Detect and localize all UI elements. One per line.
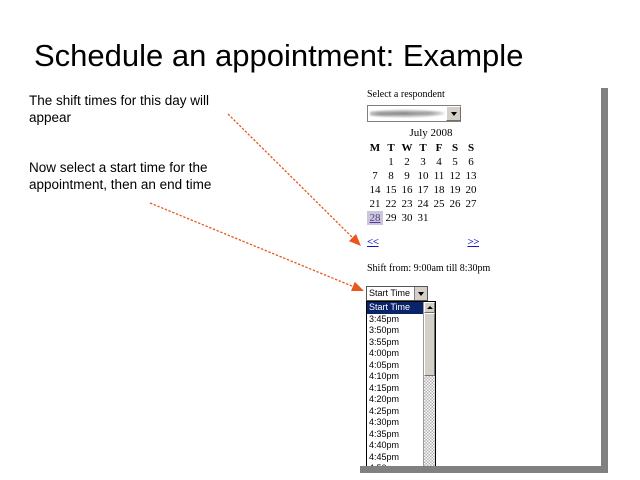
list-item[interactable]: 4:45pm: [367, 452, 423, 464]
calendar-day-cell[interactable]: 25: [431, 197, 447, 211]
scrollbar-thumb[interactable]: [424, 313, 435, 376]
arrow-to-calendar: [228, 114, 361, 246]
calendar-weekday-tue: T: [383, 141, 399, 155]
respondent-select[interactable]: [367, 105, 461, 122]
calendar-day-cell[interactable]: 12: [447, 169, 463, 183]
calendar-day-cell: [463, 211, 479, 225]
calendar-day-cell[interactable]: 17: [415, 183, 431, 197]
calendar-day-cell[interactable]: 31: [415, 211, 431, 225]
list-item[interactable]: 4:40pm: [367, 440, 423, 452]
calendar-week-row: 1 2 3 4 5 6: [367, 155, 479, 169]
calendar-widget[interactable]: July 2008 M T W T F S S 1 2 3: [367, 127, 487, 225]
respondent-label: Select a respondent: [367, 89, 445, 100]
calendar-day-cell[interactable]: 26: [447, 197, 463, 211]
calendar-day-cell[interactable]: 3: [415, 155, 431, 169]
start-time-select[interactable]: Start Time: [366, 286, 428, 301]
calendar-day-cell[interactable]: 5: [447, 155, 463, 169]
calendar-day-cell[interactable]: 7: [367, 169, 383, 183]
calendar-navigation: << >>: [367, 236, 479, 248]
calendar-day-cell[interactable]: 20: [463, 183, 479, 197]
list-item[interactable]: 4:05pm: [367, 360, 423, 372]
calendar-day-cell[interactable]: 9: [399, 169, 415, 183]
calendar-day-cell[interactable]: 19: [447, 183, 463, 197]
calendar-day-cell[interactable]: 16: [399, 183, 415, 197]
calendar-day-cell[interactable]: 21: [367, 197, 383, 211]
list-item[interactable]: 4:00pm: [367, 348, 423, 360]
calendar-day-cell: [367, 155, 383, 169]
calendar-weekday-thu: T: [415, 141, 431, 155]
page-title: Schedule an appointment: Example: [34, 38, 614, 74]
list-item[interactable]: 4:50pm: [367, 463, 423, 466]
calendar-weekday-wed: W: [399, 141, 415, 155]
list-item[interactable]: Start Time: [367, 302, 423, 314]
calendar-day-cell[interactable]: 8: [383, 169, 399, 183]
calendar-day-cell[interactable]: 6: [463, 155, 479, 169]
calendar-day-cell[interactable]: 27: [463, 197, 479, 211]
start-time-option-list[interactable]: Start Time 3:45pm 3:50pm 3:55pm 4:00pm 4…: [366, 301, 436, 466]
calendar-day-cell[interactable]: 18: [431, 183, 447, 197]
calendar-grid: M T W T F S S 1 2 3 4 5 6: [367, 141, 479, 225]
arrow-to-start-time: [150, 203, 364, 291]
list-item[interactable]: 3:50pm: [367, 325, 423, 337]
calendar-weekday-sun: S: [463, 141, 479, 155]
list-item[interactable]: 4:25pm: [367, 406, 423, 418]
calendar-day-cell[interactable]: 23: [399, 197, 415, 211]
calendar-week-row: 14 15 16 17 18 19 20: [367, 183, 479, 197]
scrollbar-track[interactable]: [424, 376, 435, 466]
callout-text-shift-times: The shift times for this day will appear: [29, 92, 244, 126]
calendar-day-cell[interactable]: 14: [367, 183, 383, 197]
calendar-day-cell[interactable]: 30: [399, 211, 415, 225]
arrow-shaft: [228, 114, 352, 238]
arrow-shaft: [150, 203, 353, 286]
calendar-day-cell[interactable]: 4: [431, 155, 447, 169]
calendar-day-cell[interactable]: 24: [415, 197, 431, 211]
list-item[interactable]: 4:10pm: [367, 371, 423, 383]
calendar-day-cell[interactable]: 10: [415, 169, 431, 183]
calendar-weekday-sat: S: [447, 141, 463, 155]
calendar-week-row: 28 29 30 31: [367, 211, 479, 225]
calendar-day-cell[interactable]: 29: [383, 211, 399, 225]
calendar-week-row: 7 8 9 10 11 12 13: [367, 169, 479, 183]
list-item[interactable]: 4:35pm: [367, 429, 423, 441]
calendar-day-cell: [447, 211, 463, 225]
chevron-down-icon[interactable]: [446, 106, 461, 121]
list-item[interactable]: 4:20pm: [367, 394, 423, 406]
calendar-day-cell[interactable]: 13: [463, 169, 479, 183]
list-item[interactable]: 4:30pm: [367, 417, 423, 429]
callout-text-select-start-time: Now select a start time for the appointm…: [29, 159, 244, 193]
respondent-selected-value-redacted: [370, 108, 445, 119]
list-item[interactable]: 3:55pm: [367, 337, 423, 349]
chevron-down-icon[interactable]: [414, 287, 427, 300]
calendar-day-cell[interactable]: 1: [383, 155, 399, 169]
embedded-screenshot: Select a respondent July 2008 M T W T F …: [353, 81, 601, 466]
calendar-weekday-mon: M: [367, 141, 383, 155]
calendar-weekday-row: M T W T F S S: [367, 141, 479, 155]
calendar-next-month-link[interactable]: >>: [467, 236, 479, 248]
calendar-day-cell: [431, 211, 447, 225]
list-item[interactable]: 3:45pm: [367, 314, 423, 326]
calendar-day-cell[interactable]: 22: [383, 197, 399, 211]
caret-up-icon[interactable]: [424, 302, 435, 313]
calendar-day-cell-selected[interactable]: 28: [367, 211, 383, 225]
list-scrollbar[interactable]: [423, 302, 435, 466]
calendar-prev-month-link[interactable]: <<: [367, 236, 379, 248]
shift-hours-text: Shift from: 9:00am till 8:30pm: [367, 263, 490, 274]
calendar-weekday-fri: F: [431, 141, 447, 155]
start-time-selected-value: Start Time: [367, 287, 414, 300]
calendar-day-cell[interactable]: 11: [431, 169, 447, 183]
calendar-day-cell[interactable]: 2: [399, 155, 415, 169]
list-item[interactable]: 4:15pm: [367, 383, 423, 395]
calendar-week-row: 21 22 23 24 25 26 27: [367, 197, 479, 211]
calendar-month-label: July 2008: [367, 127, 487, 139]
calendar-day-cell[interactable]: 15: [383, 183, 399, 197]
